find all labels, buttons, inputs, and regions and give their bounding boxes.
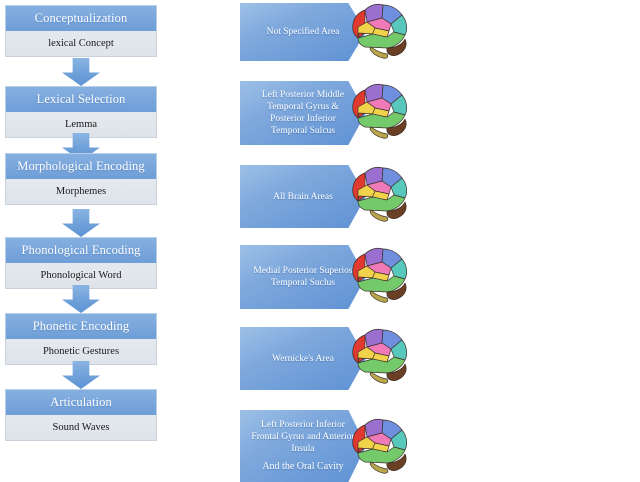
down-arrow-icon [62, 209, 100, 237]
stage-box-morphological-encoding: Morphological Encoding Morphemes [5, 153, 157, 205]
brain-area-label: All Brain Areas [251, 191, 355, 203]
stage-header: Articulation [5, 389, 157, 415]
down-arrow-icon [62, 285, 100, 313]
stage-header: Lexical Selection [5, 86, 157, 112]
stage-header: Phonological Encoding [5, 237, 157, 263]
stage-body: Sound Waves [5, 415, 157, 441]
brain-area-label: Left Posterior Middle Temporal Gyrus & P… [251, 89, 355, 137]
stage-header: Conceptualization [5, 5, 157, 31]
brain-area-sublabel: And the Oral Cavity [247, 460, 359, 473]
stage-header: Morphological Encoding [5, 153, 157, 179]
brain-icon [345, 163, 413, 225]
brain-area-label: Medial Posterior Superios Temporal Suclu… [251, 265, 355, 289]
brain-icon [345, 80, 413, 142]
diagram-canvas: Conceptualization lexical Concept Lexica… [0, 0, 640, 480]
brain-area-label: Left Posterior Inferior Frontal Gyrus an… [251, 419, 355, 455]
down-arrow-icon [62, 361, 100, 389]
brain-area-label: Wernicke's Area [251, 353, 355, 365]
stage-box-lexical-selection: Lexical Selection Lemma [5, 86, 157, 138]
stage-body: lexical Concept [5, 31, 157, 57]
stage-box-phonological-encoding: Phonological Encoding Phonological Word [5, 237, 157, 289]
stage-header: Phonetic Encoding [5, 313, 157, 339]
brain-icon [345, 415, 413, 477]
brain-icon [345, 244, 413, 306]
stage-body: Morphemes [5, 179, 157, 205]
stage-box-phonetic-encoding: Phonetic Encoding Phonetic Gestures [5, 313, 157, 365]
brain-icon [345, 325, 413, 387]
brain-icon [345, 0, 413, 62]
stage-box-articulation: Articulation Sound Waves [5, 389, 157, 441]
down-arrow-icon [62, 58, 100, 86]
stage-box-conceptualization: Conceptualization lexical Concept [5, 5, 157, 57]
brain-area-label: Not Specified Area [251, 26, 355, 38]
